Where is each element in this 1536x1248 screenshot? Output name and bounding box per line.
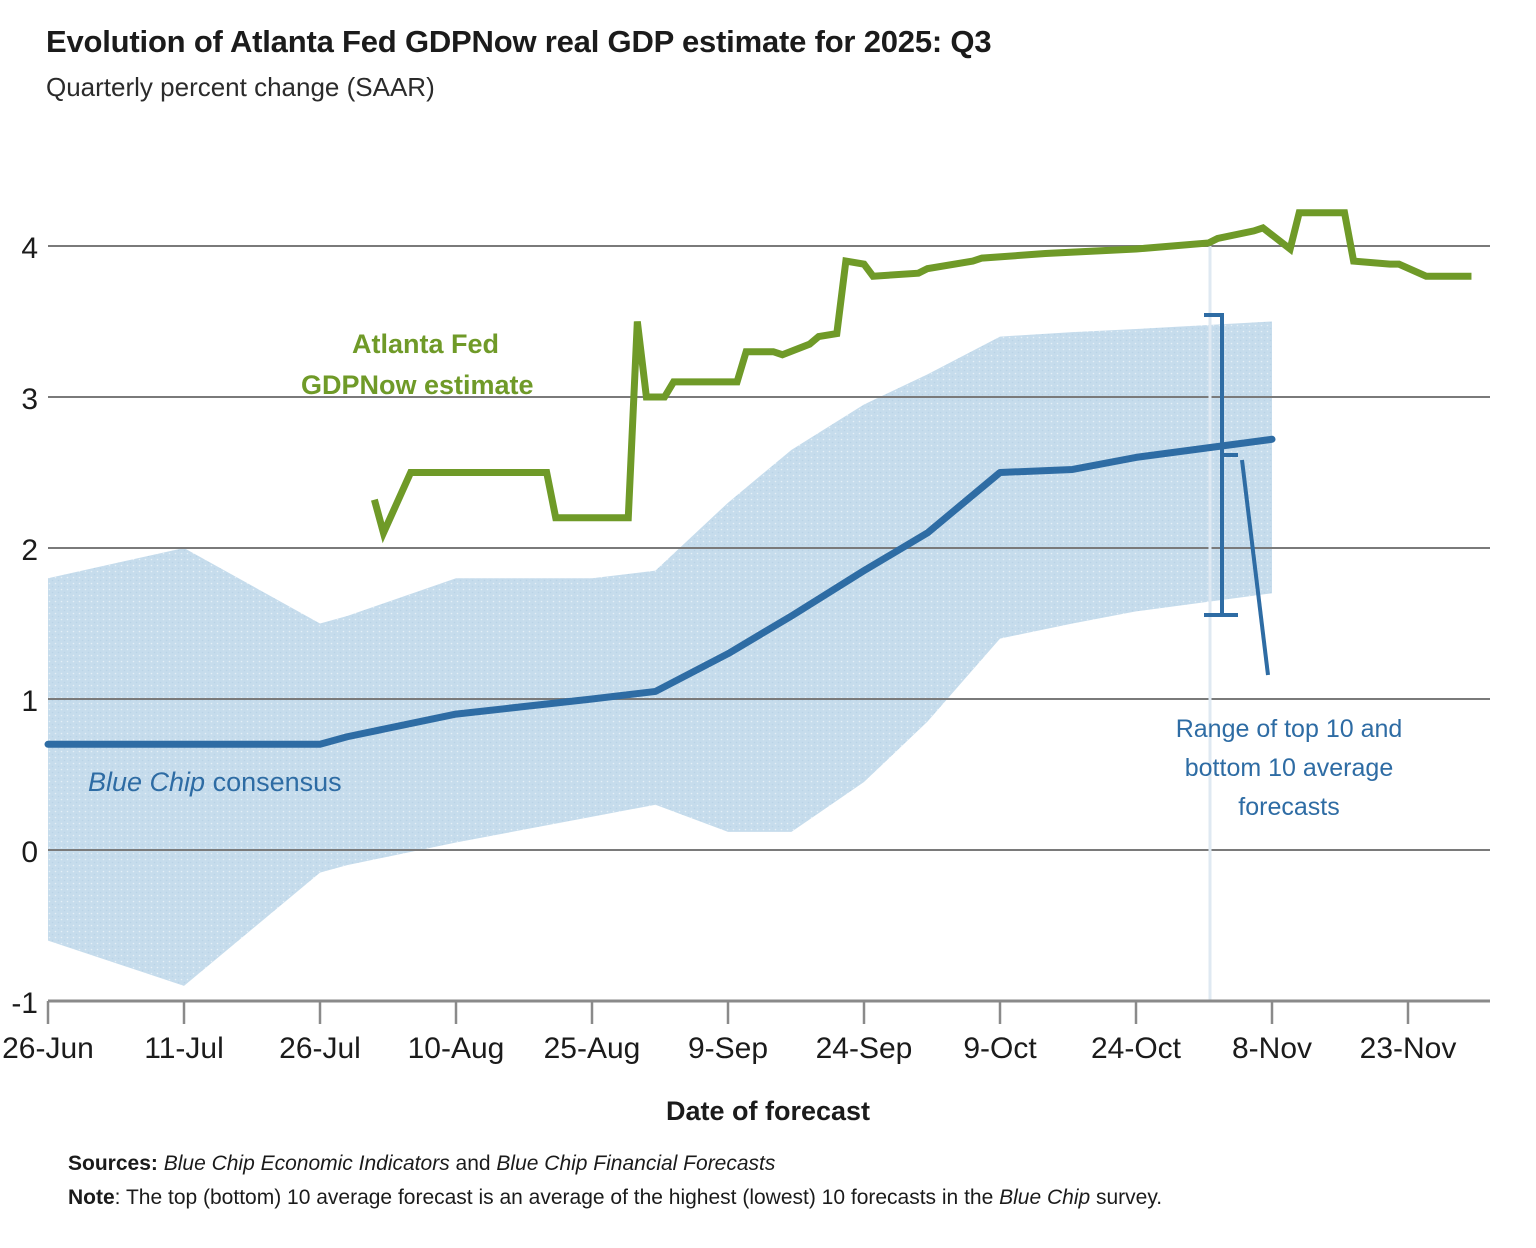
consensus-inline-label: Blue Chip consensus [88, 767, 342, 797]
range-annot-line3: forecasts [1238, 793, 1339, 821]
gdpnow-series-label: Atlanta Fed GDPNow estimate [301, 329, 534, 400]
x-tick-26-jul: 26-Jul [279, 1032, 361, 1065]
footnote-note-post: survey. [1090, 1186, 1162, 1209]
x-tick-10-aug: 10-Aug [408, 1032, 505, 1065]
y-tick-3: 3 [21, 383, 38, 416]
x-tick-8-nov: 8-Nov [1232, 1032, 1312, 1065]
x-tick-26-jun: 26-Jun [2, 1032, 94, 1065]
footnote-sources-mid: and [450, 1152, 497, 1175]
y-tick-0: 0 [21, 836, 38, 869]
footnote-note-italic: Blue Chip [999, 1186, 1090, 1209]
footnote-sources-label: Sources: [68, 1152, 158, 1175]
x-tick-9-oct: 9-Oct [963, 1032, 1037, 1065]
x-tick-25-aug: 25-Aug [544, 1032, 641, 1065]
x-tick-23-nov: 23-Nov [1360, 1032, 1457, 1065]
range-annot-line1: Range of top 10 and [1176, 715, 1403, 743]
chart-figure: Evolution of Atlanta Fed GDPNow real GDP… [0, 0, 1536, 1248]
footnote-sources-pub2: Blue Chip Financial Forecasts [496, 1152, 775, 1175]
x-tick-24-sep: 24-Sep [816, 1032, 913, 1065]
footnote-sources-pub1: Blue Chip Economic Indicators [164, 1152, 450, 1175]
footnote-note: Note: The top (bottom) 10 average foreca… [68, 1186, 1162, 1210]
consensus-label-italic: Blue Chip [88, 767, 205, 797]
y-tick-neg1: -1 [11, 987, 38, 1020]
consensus-label-plain: consensus [205, 767, 342, 797]
footnote-note-label: Note [68, 1186, 115, 1209]
y-tick-4: 4 [21, 232, 38, 265]
y-tick-2: 2 [21, 534, 38, 567]
x-axis [48, 1001, 1490, 1024]
footnote-note-pre: : The top (bottom) 10 average forecast i… [115, 1186, 999, 1209]
x-axis-title: Date of forecast [666, 1096, 870, 1126]
footnote-sources: Sources: Blue Chip Economic Indicators a… [68, 1152, 775, 1176]
x-tick-11-jul: 11-Jul [144, 1032, 223, 1065]
y-tick-labels: 4 3 2 1 0 -1 [11, 232, 38, 1020]
y-tick-1: 1 [21, 685, 38, 718]
range-band [48, 322, 1272, 986]
gdpnow-label-line1: Atlanta Fed [352, 329, 499, 359]
x-tick-9-sep: 9-Sep [688, 1032, 768, 1065]
x-tick-labels: 26-Jun 11-Jul 26-Jul 10-Aug 25-Aug 9-Sep… [2, 1032, 1456, 1065]
gdpnow-label-line2: GDPNow estimate [301, 370, 534, 400]
chart-plot-area: 4 3 2 1 0 -1 26-Jun 11-Jul 26-Jul 10-Aug… [0, 0, 1536, 1130]
range-annot-line2: bottom 10 average [1185, 754, 1393, 782]
x-tick-24-oct: 24-Oct [1091, 1032, 1182, 1065]
